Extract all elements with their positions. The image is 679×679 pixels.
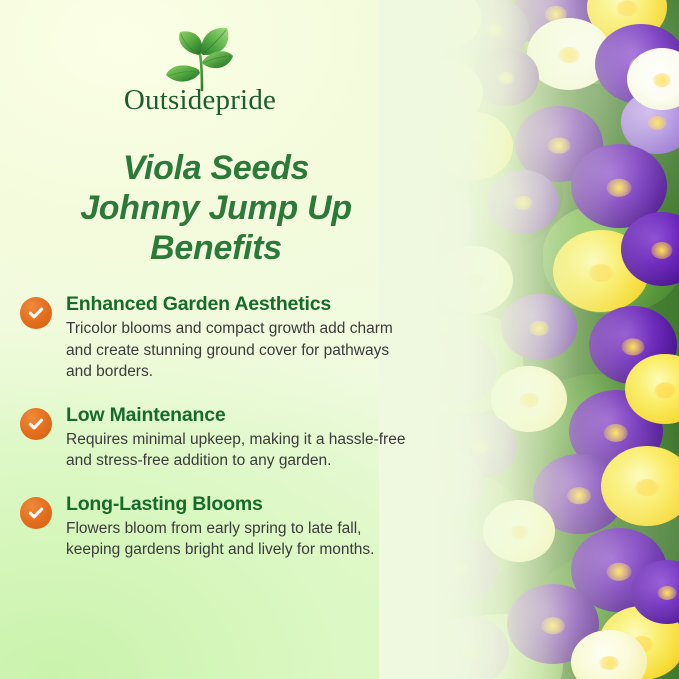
- check-circle-icon: [20, 497, 52, 529]
- page-title: Viola Seeds Johnny Jump Up Benefits: [24, 148, 408, 268]
- title-line-2: Johnny Jump Up: [24, 188, 408, 228]
- benefit-heading: Enhanced Garden Aesthetics: [66, 292, 430, 316]
- viola-seeds-benefits-infographic: Outsidepride Viola Seeds Johnny Jump Up …: [0, 0, 679, 679]
- benefit-item: Enhanced Garden Aesthetics Tricolor bloo…: [0, 292, 430, 383]
- benefit-heading: Long-Lasting Blooms: [66, 492, 430, 516]
- content-column: Outsidepride Viola Seeds Johnny Jump Up …: [0, 0, 440, 679]
- title-line-3: Benefits: [24, 228, 408, 268]
- benefits-list: Enhanced Garden Aesthetics Tricolor bloo…: [0, 292, 430, 581]
- check-circle-icon: [20, 297, 52, 329]
- check-circle-icon: [20, 408, 52, 440]
- benefit-heading: Low Maintenance: [66, 403, 430, 427]
- benefit-description: Tricolor blooms and compact growth add c…: [66, 318, 406, 382]
- brand-logo: Outsidepride: [0, 26, 400, 115]
- title-line-1: Viola Seeds: [24, 148, 408, 188]
- benefit-description: Requires minimal upkeep, making it a has…: [66, 429, 406, 472]
- benefit-item: Low Maintenance Requires minimal upkeep,…: [0, 403, 430, 472]
- benefit-description: Flowers bloom from early spring to late …: [66, 518, 406, 561]
- benefit-item: Long-Lasting Blooms Flowers bloom from e…: [0, 492, 430, 561]
- plant-sprout-leaves-icon: [140, 26, 260, 92]
